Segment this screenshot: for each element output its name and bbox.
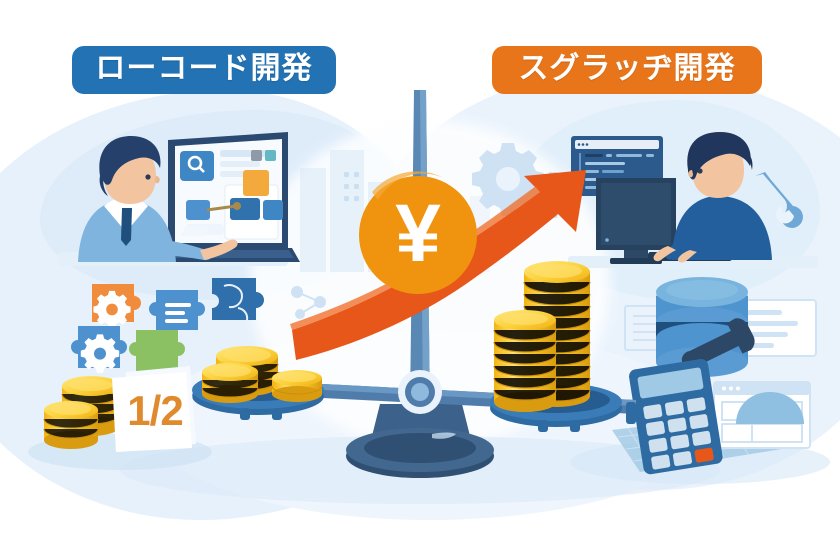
badge-scratch[interactable]: スグラッヂ開発 xyxy=(492,46,762,94)
yen-symbol-wrap: ¥ xyxy=(359,176,477,294)
badge-low-code[interactable]: ローコード開発 xyxy=(72,46,336,94)
yen-symbol: ¥ xyxy=(395,193,441,275)
illustration-canvas: 1/2 ¥ ローコード開発 スグラッヂ開発 xyxy=(0,0,840,560)
